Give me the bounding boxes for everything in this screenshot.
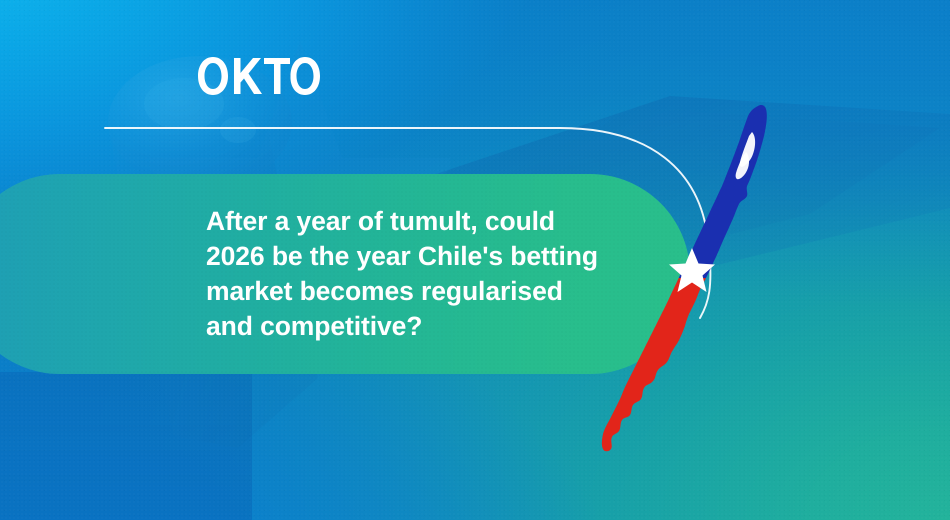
- okto-logo[interactable]: [198, 55, 320, 97]
- headline-text: After a year of tumult, could 2026 be th…: [206, 204, 676, 344]
- promo-banner-canvas: After a year of tumult, could 2026 be th…: [0, 0, 950, 520]
